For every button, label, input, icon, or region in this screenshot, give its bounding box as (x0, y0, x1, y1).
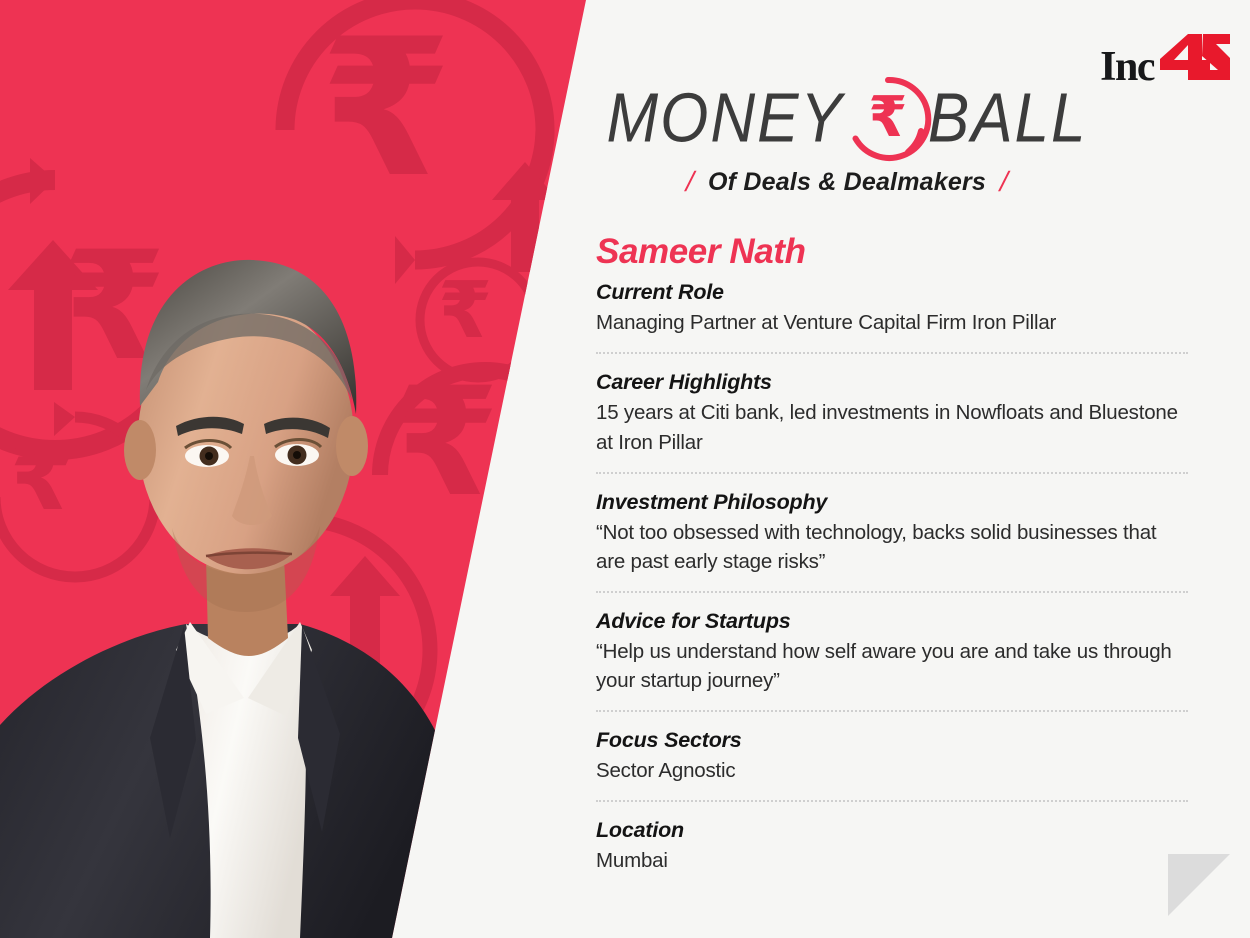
inc42-logo[interactable]: Inc (1100, 34, 1232, 91)
field-label: Advice for Startups (596, 607, 1196, 636)
field-label: Career Highlights (596, 368, 1196, 397)
field-label: Location (596, 816, 1196, 845)
field-value: Managing Partner at Venture Capital Firm… (596, 308, 1188, 337)
infographic-card: ₹ ₹ ₹ ₹ (0, 0, 1250, 938)
moneyball-logo: MONEY ₹ BALL / Of Deals & Dealmakers / (612, 76, 1082, 198)
divider (596, 352, 1188, 354)
field-value: “Help us understand how self aware you a… (596, 637, 1188, 695)
divider (596, 472, 1188, 474)
field-career-highlights: Career Highlights 15 years at Citi bank,… (596, 368, 1196, 456)
tagline-slash-left: / (686, 166, 695, 198)
field-value: “Not too obsessed with technology, backs… (596, 518, 1188, 576)
inc42-logo-42 (1158, 34, 1232, 85)
inc42-logo-text: Inc (1100, 43, 1154, 91)
field-label: Current Role (596, 278, 1196, 307)
left-red-panel: ₹ ₹ ₹ ₹ (0, 0, 600, 938)
portrait-photo (0, 138, 470, 938)
moneyball-tagline: / Of Deals & Dealmakers / (612, 166, 1082, 198)
logo-word-ball: BALL (928, 84, 1088, 153)
field-current-role: Current Role Managing Partner at Venture… (596, 278, 1196, 337)
field-label: Investment Philosophy (596, 488, 1196, 517)
rupee-symbol: ₹ (842, 90, 934, 146)
rupee-coin-icon: ₹ (842, 73, 934, 165)
field-value: 15 years at Citi bank, led investments i… (596, 398, 1188, 456)
logo-word-money: MONEY (606, 84, 843, 153)
divider (596, 591, 1188, 593)
field-advice-for-startups: Advice for Startups “Help us understand … (596, 607, 1196, 695)
divider (596, 710, 1188, 712)
tagline-slash-right: / (999, 166, 1008, 198)
field-investment-philosophy: Investment Philosophy “Not too obsessed … (596, 488, 1196, 576)
corner-fold-decoration (1168, 854, 1230, 916)
tagline-text: Of Deals & Dealmakers (708, 168, 986, 197)
right-content-panel: Inc MONEY (586, 0, 1250, 938)
field-location: Location Mumbai (596, 816, 1196, 875)
divider (596, 800, 1188, 802)
profile-details: Sameer Nath Current Role Managing Partne… (596, 232, 1196, 875)
field-value: Mumbai (596, 846, 1188, 875)
field-label: Focus Sectors (596, 726, 1196, 755)
field-value: Sector Agnostic (596, 756, 1188, 785)
page-title: Sameer Nath (596, 232, 1196, 272)
field-focus-sectors: Focus Sectors Sector Agnostic (596, 726, 1196, 785)
